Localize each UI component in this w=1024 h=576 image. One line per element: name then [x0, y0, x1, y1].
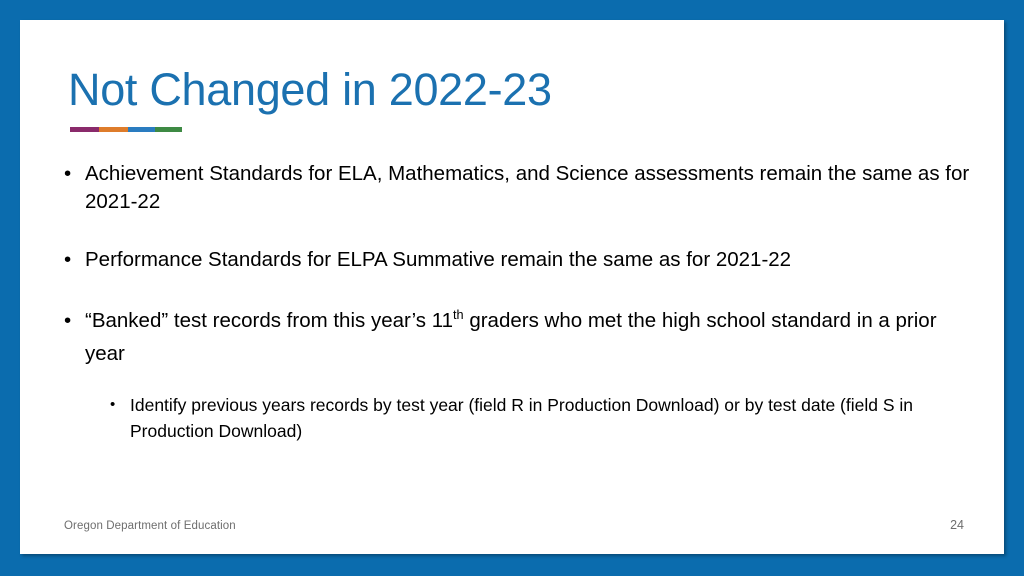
rule-segment-orange: [99, 127, 128, 132]
slide-frame: Not Changed in 2022-23 • Achievement Sta…: [0, 0, 1024, 576]
footer-organization: Oregon Department of Education: [64, 520, 236, 532]
bullet-marker-icon: •: [110, 393, 130, 417]
list-item: • Identify previous years records by tes…: [110, 393, 976, 445]
bullet-list: • Achievement Standards for ELA, Mathema…: [64, 160, 976, 444]
list-item-label: Performance Standards for ELPA Summative…: [85, 246, 976, 274]
list-item-label: Identify previous years records by test …: [130, 393, 976, 445]
page-title: Not Changed in 2022-23: [68, 66, 948, 115]
list-item-label: Achievement Standards for ELA, Mathemati…: [85, 160, 976, 216]
list-spacer: [64, 238, 976, 246]
list-item: • Achievement Standards for ELA, Mathema…: [64, 160, 976, 216]
bullet-marker-icon: •: [64, 160, 85, 188]
rule-segment-purple: [70, 127, 99, 132]
list-spacer: [64, 296, 976, 304]
rule-segment-blue: [128, 127, 155, 132]
title-block: Not Changed in 2022-23: [68, 66, 948, 132]
rule-segment-green: [155, 127, 182, 132]
list-item-text-lead: “Banked” test records from this year’s 1…: [85, 309, 453, 332]
bullet-marker-icon: •: [64, 246, 85, 274]
list-item: • Performance Standards for ELPA Summati…: [64, 246, 976, 274]
slide-canvas: Not Changed in 2022-23 • Achievement Sta…: [20, 20, 1004, 554]
list-item: • “Banked” test records from this year’s…: [64, 304, 976, 370]
slide-footer: Oregon Department of Education 24: [64, 518, 964, 532]
ordinal-suffix: th: [453, 307, 464, 322]
title-accent-rule: [70, 127, 182, 132]
list-item-label: “Banked” test records from this year’s 1…: [85, 304, 976, 370]
bullet-marker-icon: •: [64, 304, 85, 337]
slide-page-number: 24: [950, 518, 964, 532]
